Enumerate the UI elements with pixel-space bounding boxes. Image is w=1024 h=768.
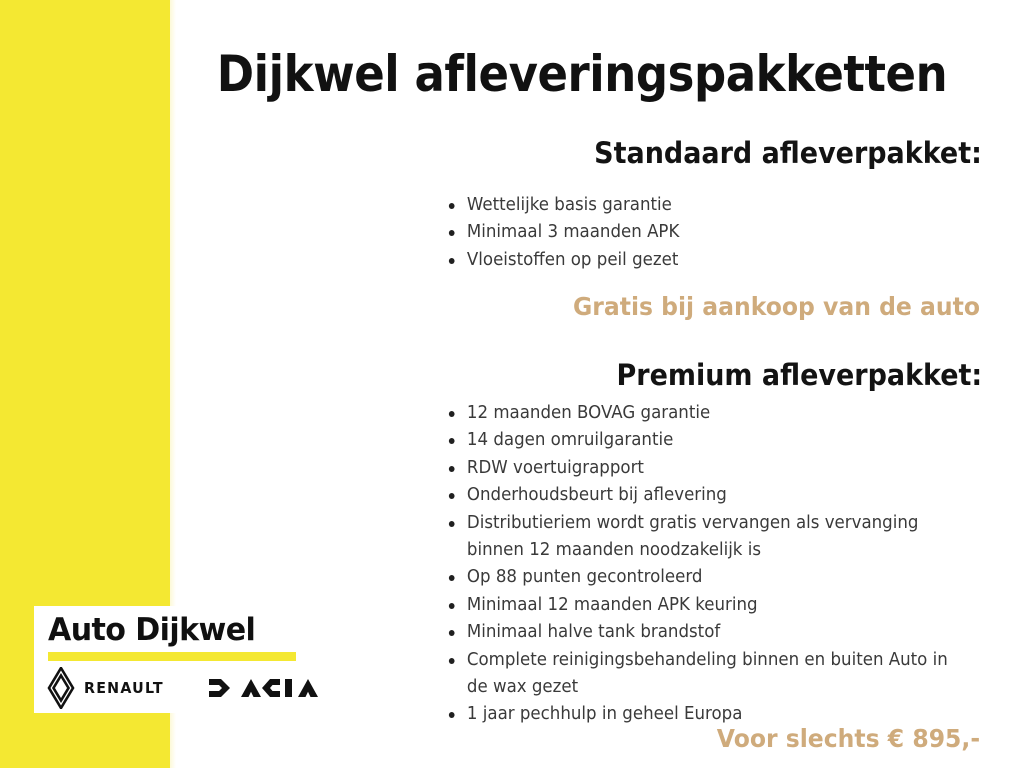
dacia-wordmark-icon: DACIA [208, 677, 328, 699]
standaard-feature-list: Wettelijke basis garantie Minimaal 3 maa… [446, 192, 986, 274]
list-item: Op 88 punten gecontroleerd [446, 564, 959, 591]
list-item: Minimaal 12 maanden APK keuring [446, 592, 959, 619]
list-item: Distributieriem wordt gratis vervangen a… [446, 510, 959, 565]
dealer-logo-card: Auto Dijkwel RENAULT [34, 606, 338, 713]
list-item: 14 dagen omruilgarantie [446, 427, 959, 454]
poster-canvas: Dijkwel afleveringspakketten Standaard a… [0, 0, 1024, 768]
list-item: Minimaal halve tank brandstof [446, 619, 959, 646]
logo-yellow-rule [48, 652, 296, 661]
standaard-section-heading: Standaard afleverpakket: [594, 136, 982, 170]
list-item: Wettelijke basis garantie [446, 192, 959, 219]
list-item: 12 maanden BOVAG garantie [446, 400, 959, 427]
dealer-wordmark: Auto Dijkwel [48, 611, 255, 649]
renault-wordmark: RENAULT [84, 679, 164, 697]
list-item: Minimaal 3 maanden APK [446, 219, 959, 246]
premium-section-heading: Premium afleverpakket: [616, 358, 982, 392]
list-item: RDW voertuigrapport [446, 455, 959, 482]
list-item: Complete reinigingsbehandeling binnen en… [446, 647, 959, 702]
dacia-label: DACIA [328, 677, 329, 678]
page-title: Dijkwel afleveringspakketten [217, 44, 948, 104]
list-item: Vloeistoffen op peil gezet [446, 247, 959, 274]
brand-logos: RENAULT DACIA [46, 667, 336, 709]
premium-feature-list: 12 maanden BOVAG garantie 14 dagen omrui… [446, 400, 986, 729]
standaard-price-note: Gratis bij aankoop van de auto [573, 292, 980, 322]
premium-price-note: Voor slechts € 895,- [717, 724, 980, 754]
list-item: Onderhoudsbeurt bij aflevering [446, 482, 959, 509]
renault-diamond-icon [46, 667, 76, 709]
